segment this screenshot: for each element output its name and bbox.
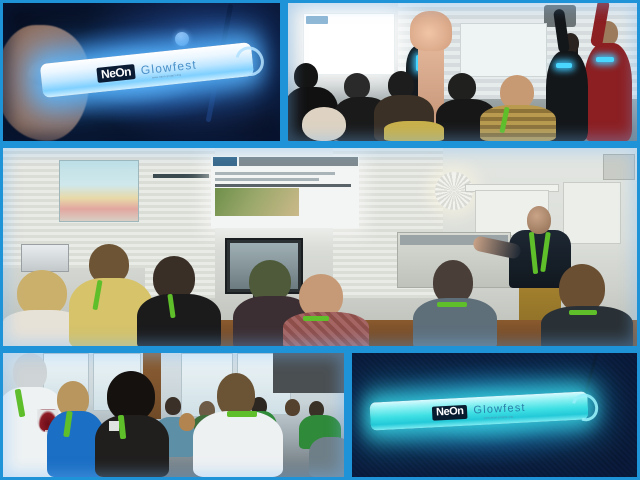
background-attendee-head	[179, 413, 195, 431]
shirt-button	[175, 32, 189, 46]
projection-screen	[303, 13, 395, 75]
photo-panel-top-left: NeOn Glowfest www.neon-project.org	[3, 3, 280, 141]
attendee-head-grey-hair	[13, 353, 47, 391]
glowstick-necklace	[556, 63, 572, 68]
slide-text-line	[215, 184, 351, 187]
lanyard-green	[569, 310, 597, 315]
name-badge	[109, 421, 119, 431]
slide-thumbnail	[213, 157, 237, 166]
wall-vent	[603, 154, 635, 180]
photo-panel-bottom-right: NeOn Glowfest www.neon-project.org	[352, 353, 637, 477]
audience-head-blonde	[302, 107, 346, 141]
photo-panel-center	[3, 148, 637, 346]
blind-rail	[153, 174, 209, 178]
attendee-body	[309, 437, 344, 477]
audience-head	[344, 73, 370, 99]
glowstick-necklace	[596, 57, 614, 62]
slide-image	[215, 188, 299, 216]
background-attendee-head	[285, 399, 300, 416]
audience-head	[294, 63, 318, 89]
whiteboard	[460, 23, 547, 77]
conference-poster	[59, 160, 139, 222]
audience-head	[559, 264, 605, 312]
attendee-body-white-shirt	[193, 411, 283, 477]
presenter-head	[527, 206, 551, 234]
photo-panel-bottom-left	[3, 353, 344, 477]
foreground-raised-hand	[410, 11, 452, 51]
audience-head	[448, 73, 476, 101]
attendee-body	[95, 415, 169, 477]
whiteboard-secondary	[563, 182, 621, 244]
slide-text-line	[215, 172, 335, 175]
laptop	[21, 244, 69, 272]
presentation-screen	[211, 156, 359, 228]
photo-collage: NeOn Glowfest www.neon-project.org	[0, 0, 640, 480]
lanyard-green	[303, 316, 329, 321]
attendee-head-dark-hair	[107, 371, 155, 421]
background-attendee-head	[165, 397, 181, 415]
slide-title-bar	[239, 157, 358, 166]
lanyard-green	[437, 302, 467, 307]
audience-body-striped	[480, 105, 556, 141]
audience-body	[137, 294, 221, 346]
audience-head	[500, 75, 534, 109]
lanyard-green	[227, 411, 257, 417]
audience-body	[384, 121, 444, 141]
slide-text-line	[215, 178, 319, 181]
ceiling-fixture	[273, 353, 344, 393]
slide-titlebar	[306, 16, 328, 24]
photo-panel-top-right	[288, 3, 637, 141]
neon-logo-text: NeOn	[432, 405, 468, 420]
